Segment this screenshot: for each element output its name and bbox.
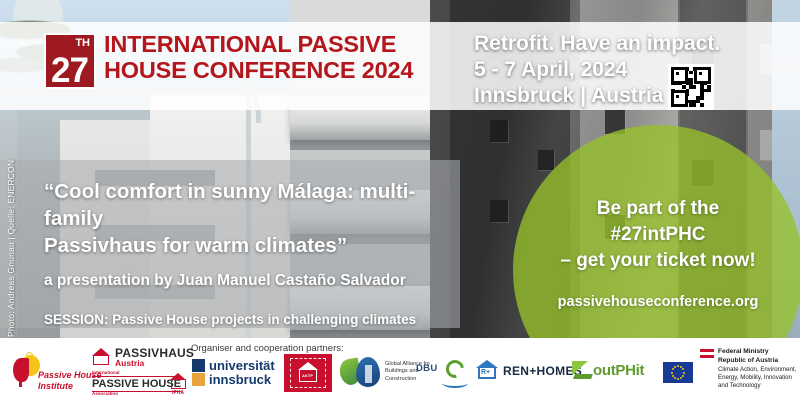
presentation-quote-block: “Cool comfort in sunny Málaga: multi-fam… bbox=[44, 178, 464, 329]
conference-title-line2: HOUSE CONFERENCE 2024 bbox=[104, 57, 434, 83]
uibk-orange-square-icon bbox=[192, 373, 205, 386]
logo-passive-house-institute[interactable]: Passive House Institute bbox=[8, 350, 88, 394]
ren-homes-label: REN+HOMES bbox=[503, 364, 582, 378]
logo-passivhaus-austria[interactable]: PASSIVHAUS Austria bbox=[92, 346, 184, 368]
edition-suffix: TH bbox=[75, 38, 90, 49]
cta-line3: – get your ticket now! bbox=[530, 248, 786, 274]
eu-flag-icon bbox=[663, 362, 693, 383]
logo-dbu[interactable]: DBU bbox=[416, 360, 468, 388]
conference-website-link[interactable]: passivehouseconference.org bbox=[530, 294, 786, 310]
qr-finder-pattern bbox=[671, 90, 688, 107]
eu-star-icon bbox=[674, 366, 676, 368]
bmk-label-line2: Republic of Austria bbox=[718, 357, 778, 364]
cta-line1: Be part of the bbox=[530, 196, 786, 222]
conference-title-line1: INTERNATIONAL PASSIVE bbox=[104, 31, 396, 57]
house-icon: R+ bbox=[476, 360, 498, 380]
quote-line2: Passivhaus for warm climates” bbox=[44, 232, 464, 259]
eu-star-icon bbox=[672, 375, 674, 377]
eu-star-icon bbox=[674, 377, 676, 379]
photo-credit: Photo: Andreas Gnunau | Quelle: ENERCON bbox=[6, 117, 16, 337]
ipha-abbreviation: iPHA bbox=[172, 390, 184, 396]
qr-finder-pattern bbox=[671, 67, 688, 84]
uibk-blue-square-icon bbox=[192, 359, 205, 372]
qr-code[interactable] bbox=[668, 64, 714, 110]
session-title: SESSION: Passive House projects in chall… bbox=[44, 311, 464, 329]
ipha-tiny-bottom: Association bbox=[92, 391, 118, 396]
window bbox=[490, 120, 508, 142]
ipha-tiny-top: International bbox=[92, 370, 120, 375]
dbu-label: DBU bbox=[416, 363, 437, 374]
window bbox=[490, 200, 508, 222]
austria-flag-icon bbox=[700, 349, 714, 358]
eu-star-icon bbox=[677, 378, 679, 380]
bmk-label-line1: Federal Ministry bbox=[718, 348, 769, 355]
wave-icon bbox=[442, 378, 468, 388]
eu-star-icon bbox=[671, 372, 673, 374]
partner-logo-footer: Organiser and cooperation partners: Pass… bbox=[0, 338, 800, 400]
logo-universitat-innsbruck[interactable]: universität innsbruck bbox=[192, 358, 278, 388]
qr-module bbox=[693, 85, 697, 89]
conference-banner: 27 TH INTERNATIONAL PASSIVE HOUSE CONFER… bbox=[0, 0, 800, 400]
qr-module bbox=[700, 96, 704, 100]
qr-code-pattern bbox=[671, 67, 711, 107]
bmk-label-line3: Climate Action, Environment, Energy, Mob… bbox=[718, 366, 800, 391]
uibk-label-line1: universität bbox=[209, 358, 275, 373]
logo-federal-ministry-austria[interactable]: Federal Ministry Republic of Austria Cli… bbox=[700, 348, 800, 396]
logo-ipha[interactable]: International PASSIVE HOUSE Association … bbox=[92, 370, 188, 396]
eu-star-icon bbox=[683, 372, 685, 374]
qr-module bbox=[707, 89, 711, 93]
logo-red-house-stamp[interactable]: AKTP bbox=[284, 354, 332, 392]
cta-hashtag: #27intPHC bbox=[530, 222, 786, 248]
pha-label-line2: Austria bbox=[115, 358, 144, 368]
stamp-mark: AKTP bbox=[302, 373, 313, 378]
balcony-railing bbox=[290, 140, 440, 150]
eu-star-icon bbox=[672, 368, 674, 370]
qr-module bbox=[689, 71, 693, 75]
house-icon bbox=[92, 348, 110, 365]
event-tagline: Retrofit. Have an impact. bbox=[474, 31, 720, 57]
presenter-name: a presentation by Juan Manuel Castaño Sa… bbox=[44, 271, 464, 291]
outphit-arrow-icon bbox=[572, 361, 594, 381]
partners-label: Organiser and cooperation partners: bbox=[191, 343, 344, 354]
ren-badge: R+ bbox=[481, 369, 490, 376]
logo-outphit[interactable]: outPHit bbox=[572, 360, 662, 386]
house-icon bbox=[170, 373, 187, 389]
qr-module bbox=[700, 103, 704, 107]
building-icon bbox=[365, 365, 372, 383]
eu-star-icon bbox=[682, 368, 684, 370]
outphit-label: outPHit bbox=[593, 362, 644, 379]
ipha-main-label: PASSIVE HOUSE bbox=[92, 376, 181, 392]
call-to-action: Be part of the #27intPHC – get your tick… bbox=[530, 196, 786, 310]
edition-number-logo: 27 TH bbox=[44, 33, 96, 89]
uibk-label-line2: innsbruck bbox=[209, 372, 271, 387]
logo-ren-homes[interactable]: R+ REN+HOMES bbox=[476, 360, 568, 386]
qr-finder-pattern bbox=[694, 67, 711, 84]
eu-star-icon bbox=[682, 375, 684, 377]
quote-line1: “Cool comfort in sunny Málaga: multi-fam… bbox=[44, 178, 464, 232]
window bbox=[538, 150, 554, 170]
edition-number: 27 bbox=[51, 53, 88, 88]
eu-star-icon bbox=[677, 365, 679, 367]
eu-star-icon bbox=[680, 377, 682, 379]
qr-module bbox=[693, 103, 697, 107]
page-title: INTERNATIONAL PASSIVE HOUSE CONFERENCE 2… bbox=[104, 31, 434, 83]
phi-label-line2: Institute bbox=[38, 381, 73, 391]
